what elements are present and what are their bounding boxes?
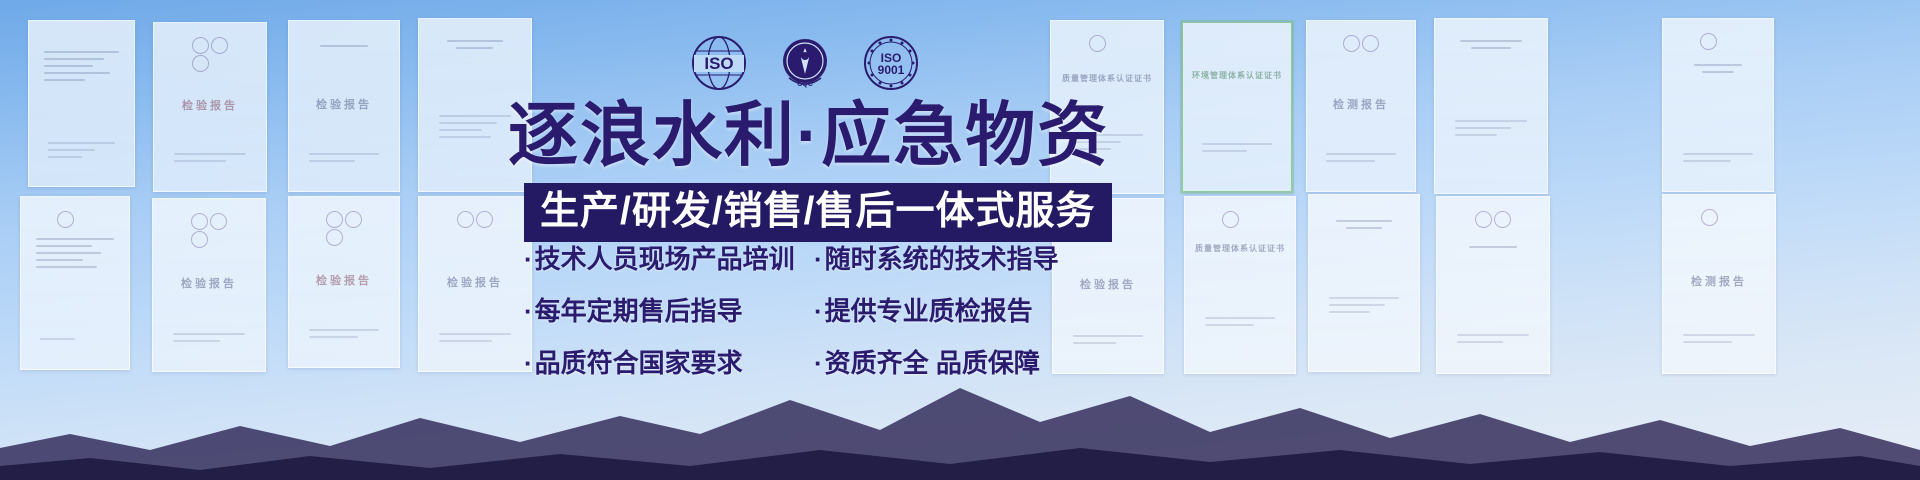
iso-badge: ISO [690,34,748,92]
subtitle-bar: 生产/研发/销售/售后一体式服务 [524,183,1112,242]
feature-item: ·资质齐全 品质保障 [814,349,1059,379]
feature-label: 品质符合国家要求 [535,348,743,378]
bullet-icon: · [524,296,533,326]
subtitle-text: 生产/研发/销售/售后一体式服务 [540,190,1096,233]
feature-item: ·品质符合国家要求 [524,349,802,379]
feature-label: 随时系统的技术指导 [825,244,1059,274]
feature-item: ·提供专业质检报告 [814,297,1059,327]
feature-item: ·随时系统的技术指导 [814,245,1059,275]
iso9001-badge-number: 9001 [878,63,905,77]
feature-item: ·技术人员现场产品培训 [524,245,802,275]
feature-list: ·技术人员现场产品培训 ·随时系统的技术指导 ·每年定期售后指导 ·提供专业质检… [524,245,1059,379]
promotional-banner: 检验报告 检验报告 质量管理体系认证证书 环境管理体系认证证书 检测报告 [0,0,1920,480]
iso-badge-label: ISO [704,54,733,73]
bullet-icon: · [814,348,823,378]
bullet-icon: · [814,296,823,326]
iso9001-badge: ISO 9001 [862,34,920,92]
feature-item: ·每年定期售后指导 [524,297,802,327]
feature-label: 技术人员现场产品培训 [535,244,795,274]
banner-content: ISO CQC [0,0,1920,480]
cqc-badge-label: CQC [797,81,813,88]
page-title: 逐浪水利·应急物资 [508,100,1109,170]
feature-label: 每年定期售后指导 [535,296,743,326]
bullet-icon: · [524,348,533,378]
cqc-seal-badge: CQC [776,34,834,92]
bullet-icon: · [814,244,823,274]
bullet-icon: · [524,244,533,274]
certification-badges: ISO CQC [690,34,920,92]
feature-label: 提供专业质检报告 [825,296,1033,326]
feature-label: 资质齐全 品质保障 [825,348,1040,378]
